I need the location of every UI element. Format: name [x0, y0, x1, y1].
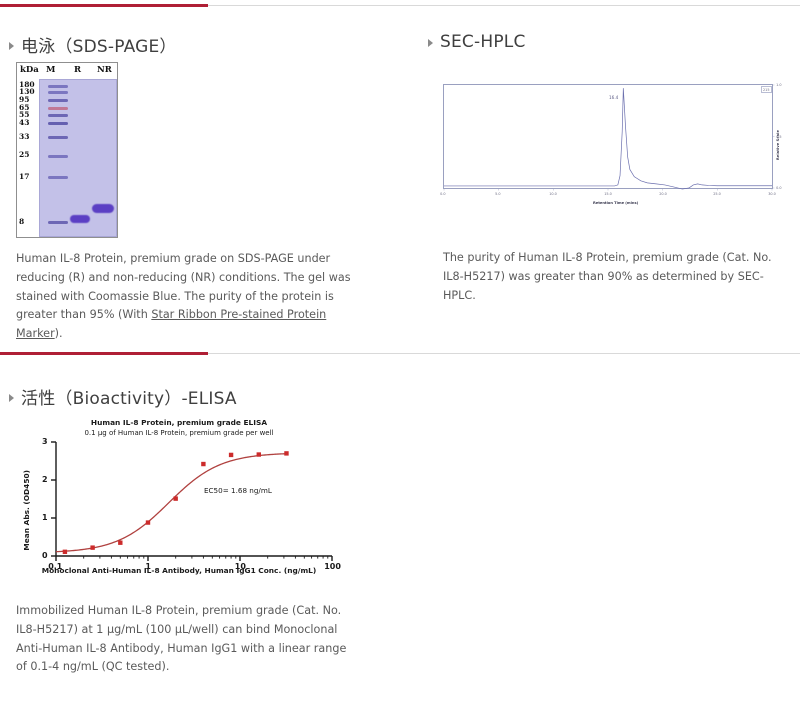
hplc-x-tick-4: 20.0: [659, 192, 667, 196]
elisa-x-axis-label: Monoclonal Anti-Human IL-8 Antibody, Hum…: [14, 566, 344, 575]
gel-lane-header-m: M: [46, 65, 55, 75]
elisa-y-tick-1: 1: [42, 513, 48, 522]
elisa-data-point: [201, 462, 205, 466]
bioactivity-description: Immobilized Human IL-8 Protein, premium …: [16, 602, 356, 677]
elisa-data-point: [284, 451, 288, 455]
hplc-legend-box: 215: [761, 86, 772, 93]
gel-lane-header-r: R: [74, 65, 81, 75]
top-divider: [0, 4, 800, 7]
triangle-bullet-icon: [428, 39, 433, 47]
gel-lane-header-nr: NR: [97, 65, 112, 75]
divider-accent-bar: [0, 352, 208, 355]
elisa-data-point: [229, 453, 233, 457]
elisa-plot-svg: [14, 418, 344, 584]
elisa-data-point: [146, 520, 150, 524]
marker-band-180: [48, 85, 68, 88]
hplc-x-tick-0: 0.0: [440, 192, 445, 196]
section-heading-sechplc: SEC-HPLC: [428, 32, 526, 52]
sds-page-description: Human IL-8 Protein, premium grade on SDS…: [16, 250, 352, 344]
elisa-y-tick-0: 0: [42, 551, 48, 560]
elisa-y-axis-label: Mean Abs. (OD450): [22, 470, 31, 551]
elisa-data-point: [257, 452, 261, 456]
middle-divider: [0, 352, 800, 355]
marker-band-25: [48, 155, 68, 158]
mw-label-17: 17: [19, 173, 29, 181]
mw-label-25: 25: [19, 151, 29, 159]
hplc-x-tick-6: 30.0: [768, 192, 776, 196]
sec-hplc-chart: 16.4 215 Retention Time (mins) Relative …: [437, 78, 782, 208]
section-heading-label: SEC-HPLC: [440, 32, 526, 52]
gel-plate: [39, 79, 117, 237]
marker-band-17: [48, 176, 68, 179]
elisa-y-tick-3: 3: [42, 437, 48, 446]
hplc-x-tick-5: 25.0: [714, 192, 722, 196]
marker-band-95: [48, 99, 68, 102]
hplc-x-axis-label: Retention Time (mins): [593, 201, 638, 205]
elisa-data-point: [118, 541, 122, 545]
section-heading-bioactivity: 活性（Bioactivity）-ELISA: [9, 384, 237, 409]
hplc-y-tick-2: 0.0: [776, 186, 781, 190]
marker-band-8: [48, 221, 68, 224]
sample-band-non-reducing: [92, 204, 114, 213]
hplc-y-tick-0: 1.0: [776, 83, 781, 87]
mw-label-8: 8: [19, 218, 24, 226]
marker-band-65: [48, 107, 68, 110]
elisa-ec50-annotation: EC50= 1.68 ng/mL: [204, 486, 272, 495]
section-heading-label: 电泳（SDS-PAGE）: [21, 32, 177, 57]
marker-band-43: [48, 122, 68, 125]
triangle-bullet-icon: [9, 394, 14, 402]
mw-label-43: 43: [19, 119, 29, 127]
elisa-data-point: [63, 550, 67, 554]
gel-lane-header-kda: kDa: [20, 65, 39, 75]
mw-label-33: 33: [19, 133, 29, 141]
marker-band-33: [48, 136, 68, 139]
elisa-data-point: [173, 496, 177, 500]
marker-band-55: [48, 114, 68, 117]
sample-band-reducing: [70, 215, 90, 223]
hplc-peak-annotation: 16.4: [609, 95, 618, 100]
bioactivity-elisa-chart: Human IL-8 Protein, premium grade ELISA …: [14, 418, 344, 584]
hplc-x-tick-2: 10.0: [550, 192, 558, 196]
sec-hplc-description: The purity of Human IL-8 Protein, premiu…: [443, 249, 779, 305]
divider-accent-bar: [0, 4, 208, 7]
elisa-y-tick-2: 2: [42, 475, 48, 484]
section-heading-label: 活性（Bioactivity）-ELISA: [21, 384, 237, 409]
hplc-y-tick-1: 0.5: [776, 135, 781, 139]
triangle-bullet-icon: [9, 42, 14, 50]
hplc-x-tick-1: 5.0: [495, 192, 500, 196]
elisa-data-point: [90, 545, 94, 549]
sds-page-gel-figure: kDa M R NR 180 130 95 65 55 43 33 25 17 …: [16, 62, 118, 238]
hplc-x-tick-3: 15.0: [604, 192, 612, 196]
gel-lane-header-row: kDa M R NR: [17, 63, 117, 78]
elisa-data-points: [63, 451, 289, 554]
marker-band-130: [48, 91, 68, 94]
section-heading-sdspage: 电泳（SDS-PAGE）: [9, 32, 177, 57]
description-text-tail: ).: [55, 327, 63, 340]
